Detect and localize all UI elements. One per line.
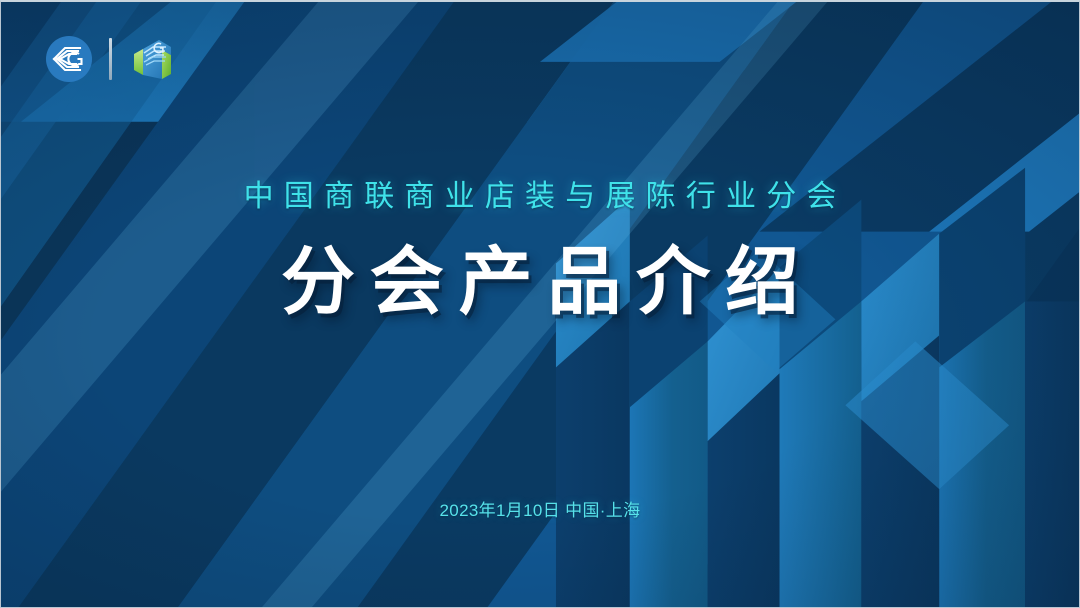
title-block: 中国商联商业店装与展陈行业分会 分会产品介绍 (1, 180, 1079, 323)
logo-divider (109, 38, 112, 80)
fold-column (1025, 301, 1079, 608)
organization-name: 中国商联商业店装与展陈行业分会 (1, 180, 1079, 215)
page-title: 分会产品介绍 (1, 241, 1079, 324)
cube-3d-logo (128, 34, 178, 84)
presentation-slide: 中国商联商业店装与展陈行业分会 分会产品介绍 2023年1月10日 中国·上海 (0, 0, 1080, 608)
logo-row (45, 34, 178, 84)
association-emblem-logo (45, 35, 93, 83)
date-and-location: 2023年1月10日 中国·上海 (1, 496, 1079, 521)
